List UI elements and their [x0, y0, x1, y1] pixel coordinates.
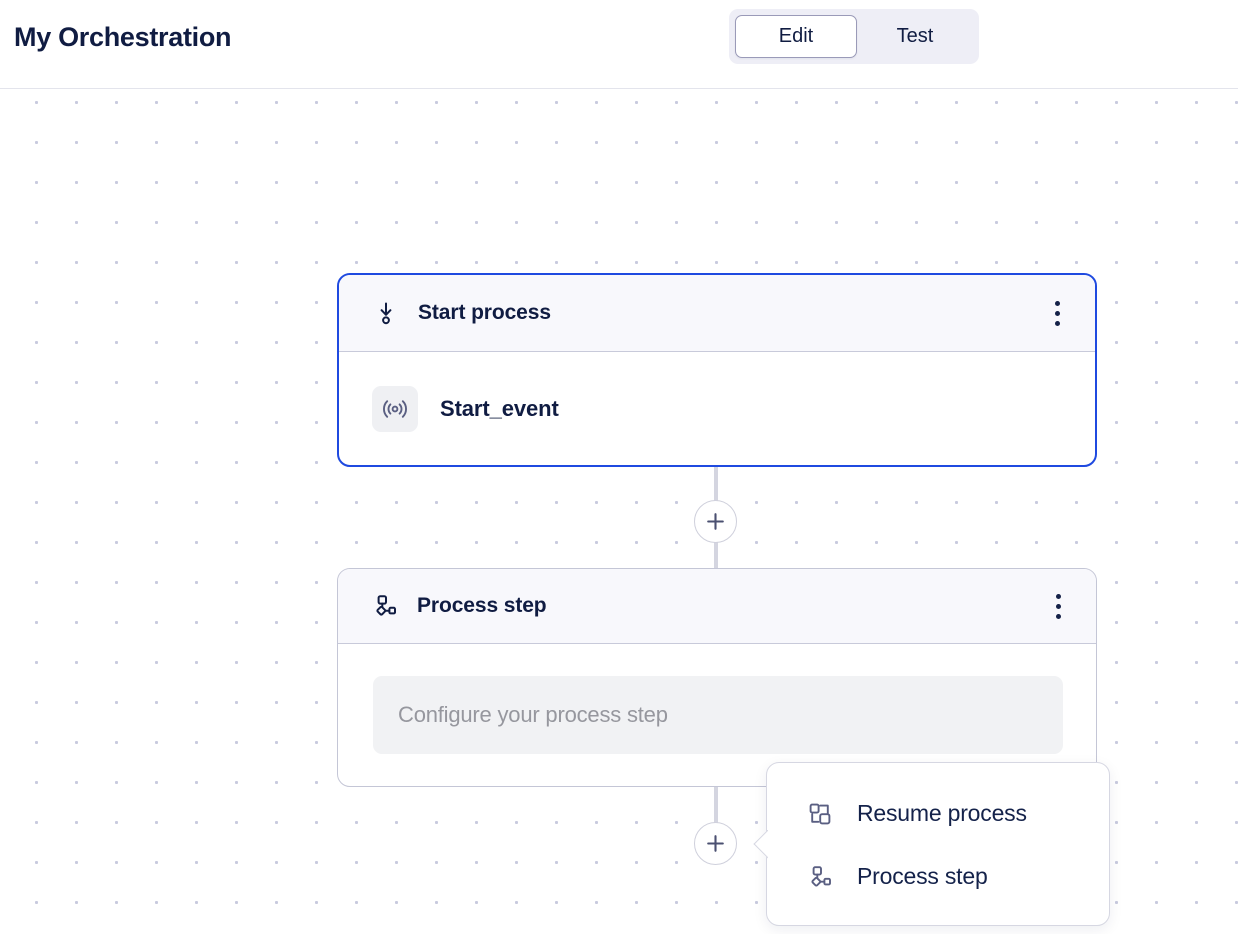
plus-icon	[705, 833, 726, 854]
menu-item-process-step[interactable]: Process step	[767, 845, 1109, 908]
kebab-menu-icon[interactable]	[1044, 296, 1070, 330]
page-title: My Orchestration	[14, 21, 231, 53]
node-start-process[interactable]: Start process Start_event	[337, 273, 1097, 467]
add-step-context-menu[interactable]: Resume process Process step	[766, 762, 1110, 926]
node-process-step[interactable]: Process step Configure your process step	[337, 568, 1097, 787]
add-step-button-1[interactable]	[694, 500, 737, 543]
flow-canvas[interactable]: Start process Start_event	[0, 89, 1238, 934]
menu-pointer-notch	[752, 830, 768, 860]
kebab-dot	[1056, 614, 1061, 619]
kebab-dot	[1055, 301, 1060, 306]
plus-icon	[705, 511, 726, 532]
menu-item-resume-process[interactable]: Resume process	[767, 782, 1109, 845]
process-node-icon	[806, 863, 834, 891]
add-step-button-2[interactable]	[694, 822, 737, 865]
node-process-step-title: Process step	[417, 594, 547, 618]
broadcast-signal-icon	[372, 386, 418, 432]
process-step-placeholder-text: Configure your process step	[398, 702, 668, 728]
kebab-dot	[1056, 604, 1061, 609]
resume-process-icon	[806, 800, 834, 828]
app-header: My Orchestration Edit Test	[0, 0, 1238, 89]
kebab-dot	[1056, 594, 1061, 599]
node-start-process-body: Start_event	[339, 352, 1095, 465]
arrow-down-to-circle-icon	[372, 299, 400, 327]
node-start-process-title: Start process	[418, 301, 551, 325]
kebab-dot	[1055, 321, 1060, 326]
kebab-dot	[1055, 311, 1060, 316]
start-event-row[interactable]: Start_event	[372, 386, 559, 432]
process-node-icon	[371, 592, 399, 620]
mode-toggle-group: Edit Test	[729, 9, 979, 64]
tab-edit[interactable]: Edit	[735, 15, 857, 58]
node-start-process-header: Start process	[339, 275, 1095, 352]
process-step-config-field[interactable]: Configure your process step	[373, 676, 1063, 754]
kebab-menu-icon[interactable]	[1045, 589, 1071, 623]
start-event-label: Start_event	[440, 396, 559, 422]
menu-item-resume-process-label: Resume process	[857, 800, 1027, 827]
tab-test[interactable]: Test	[857, 15, 973, 58]
node-process-step-header: Process step	[338, 569, 1096, 644]
menu-item-process-step-label: Process step	[857, 863, 988, 890]
